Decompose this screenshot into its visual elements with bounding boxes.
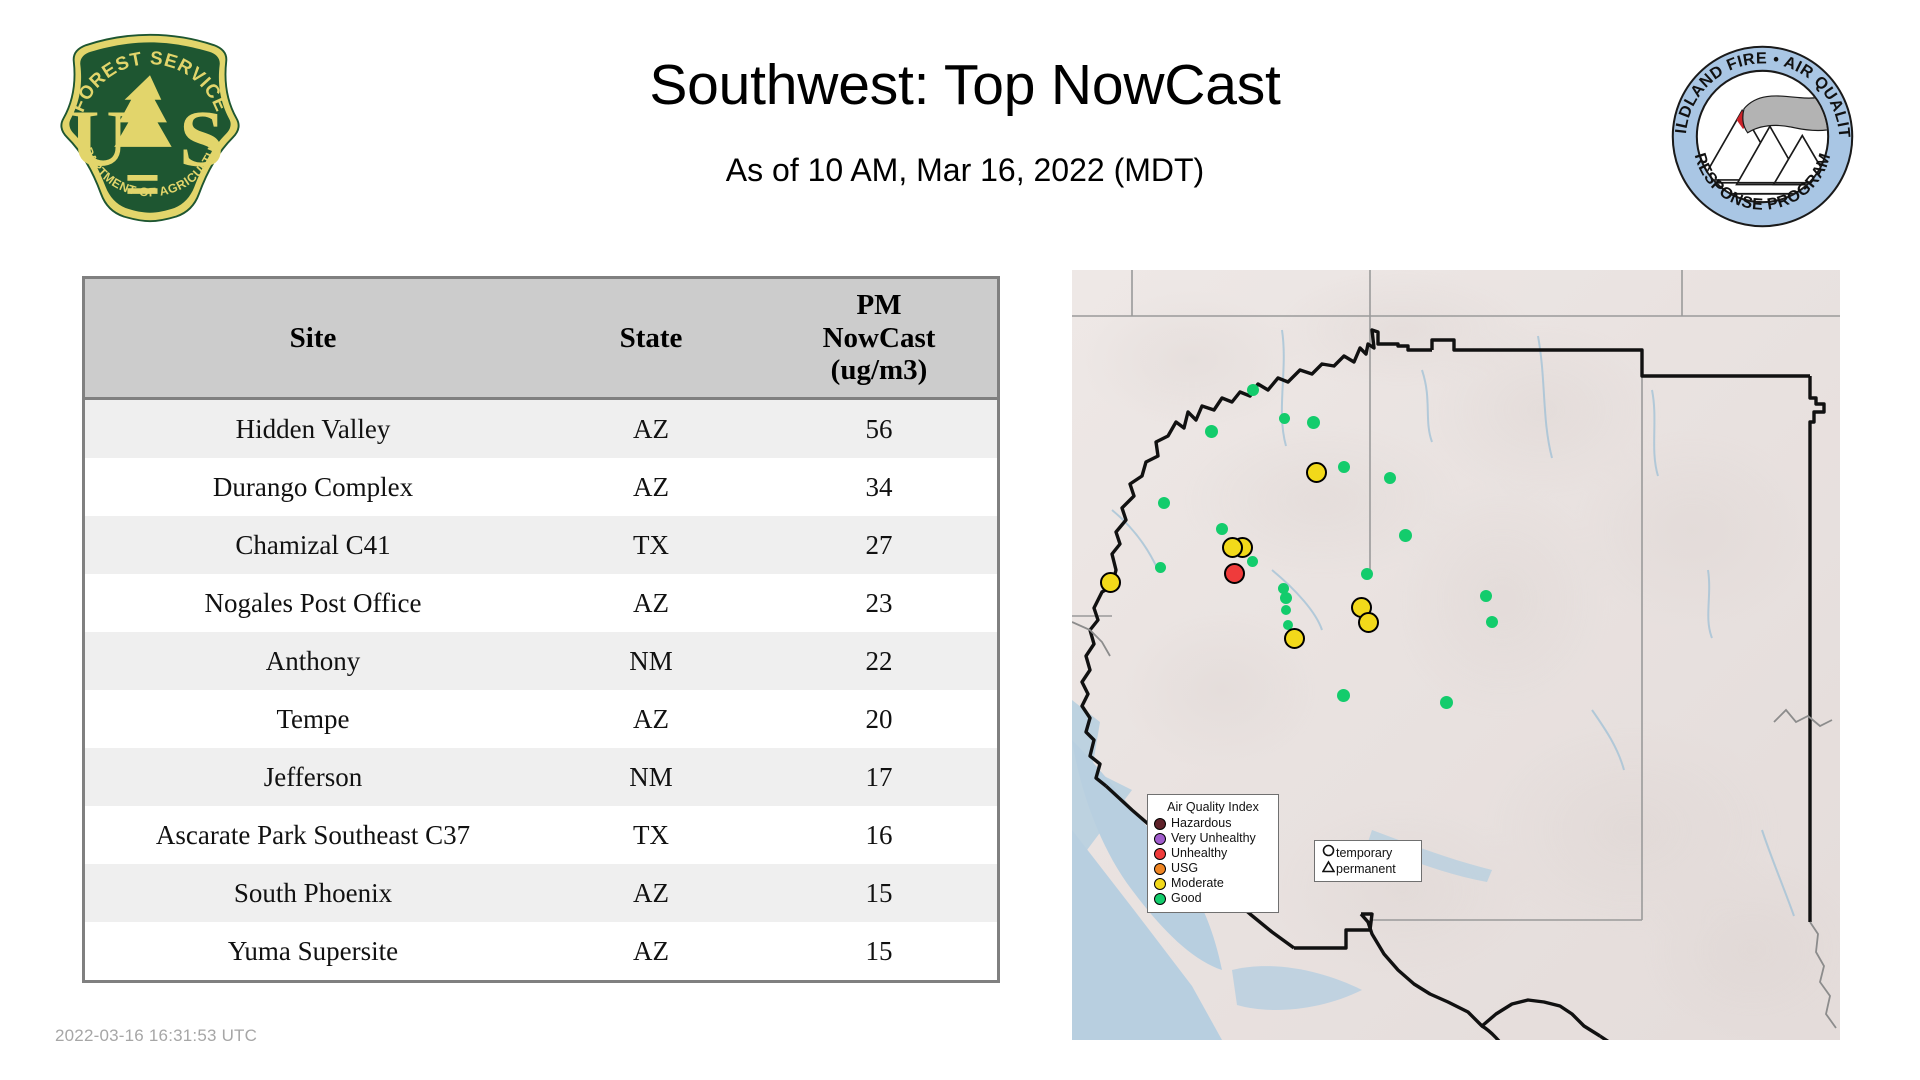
map-basemap — [1072, 270, 1840, 1040]
column-header-pm-line1: PM — [761, 289, 997, 321]
state-cell: NM — [541, 748, 761, 806]
state-cell: NM — [541, 632, 761, 690]
monitor-marker-good[interactable] — [1280, 592, 1292, 604]
aqi-legend-label: Good — [1171, 892, 1202, 905]
table-row[interactable]: Yuma SupersiteAZ15 — [84, 922, 999, 982]
monitor-marker-good[interactable] — [1337, 689, 1350, 702]
table-row[interactable]: Chamizal C41TX27 — [84, 516, 999, 574]
title-block: Southwest: Top NowCast As of 10 AM, Mar … — [300, 54, 1630, 189]
aqi-swatch-icon — [1154, 818, 1166, 830]
aqi-legend-row: Very Unhealthy — [1154, 831, 1272, 846]
aqi-legend-label: USG — [1171, 862, 1198, 875]
monitor-marker-moderate[interactable] — [1284, 628, 1305, 649]
pm-nowcast-cell: 16 — [761, 806, 999, 864]
state-cell: AZ — [541, 864, 761, 922]
site-cell: Jefferson — [84, 748, 542, 806]
site-cell: Tempe — [84, 690, 542, 748]
aqi-legend-label: Unhealthy — [1171, 847, 1227, 860]
state-cell: AZ — [541, 399, 761, 459]
site-type-temporary-label: temporary — [1336, 846, 1392, 860]
letter-s: S — [179, 94, 224, 184]
page-header: FOREST SERVICE DEPARTMENT OF AGRICULTURE… — [0, 0, 1920, 262]
table-row[interactable]: Durango ComplexAZ34 — [84, 458, 999, 516]
column-header-site-label: Site — [85, 322, 541, 354]
table-row[interactable]: Ascarate Park Southeast C37TX16 — [84, 806, 999, 864]
table-row[interactable]: Nogales Post OfficeAZ23 — [84, 574, 999, 632]
pm-nowcast-cell: 23 — [761, 574, 999, 632]
table-header-row: Site State PM NowCast (ug/m3) — [84, 278, 999, 399]
site-cell: Nogales Post Office — [84, 574, 542, 632]
table-row[interactable]: TempeAZ20 — [84, 690, 999, 748]
aqi-legend-row: Moderate — [1154, 876, 1272, 891]
aqi-swatch-icon — [1154, 863, 1166, 875]
site-type-temporary-row: temporary — [1320, 845, 1416, 861]
aqi-swatch-icon — [1154, 878, 1166, 890]
aqi-legend-title: Air Quality Index — [1154, 800, 1272, 814]
monitor-marker-moderate[interactable] — [1358, 612, 1379, 633]
aqi-legend-rows: HazardousVery UnhealthyUnhealthyUSGModer… — [1154, 816, 1272, 906]
wfaqrp-seal-icon: WILDLAND FIRE • AIR QUALITY RESPONSE PRO… — [1670, 44, 1855, 229]
column-header-site[interactable]: Site — [84, 278, 542, 399]
monitor-marker-good[interactable] — [1399, 529, 1412, 542]
page-subtitle: As of 10 AM, Mar 16, 2022 (MDT) — [300, 152, 1630, 189]
forest-service-shield-icon: FOREST SERVICE DEPARTMENT OF AGRICULTURE… — [55, 32, 245, 224]
monitor-marker-good[interactable] — [1384, 472, 1396, 484]
state-cell: AZ — [541, 690, 761, 748]
table-row[interactable]: JeffersonNM17 — [84, 748, 999, 806]
site-type-permanent-label: permanent — [1336, 862, 1396, 876]
pm-nowcast-cell: 22 — [761, 632, 999, 690]
monitor-marker-moderate[interactable] — [1306, 462, 1327, 483]
monitor-marker-moderate[interactable] — [1100, 572, 1121, 593]
aqi-legend-row: Unhealthy — [1154, 846, 1272, 861]
top-nowcast-table: Site State PM NowCast (ug/m3) Hidden Val… — [82, 276, 1000, 983]
monitor-marker-good[interactable] — [1158, 497, 1170, 509]
site-cell: Ascarate Park Southeast C37 — [84, 806, 542, 864]
column-header-pm-nowcast[interactable]: PM NowCast (ug/m3) — [761, 278, 999, 399]
monitor-marker-good[interactable] — [1440, 696, 1453, 709]
aqi-swatch-icon — [1154, 833, 1166, 845]
monitor-marker-good[interactable] — [1279, 413, 1290, 424]
top-nowcast-table-container: Site State PM NowCast (ug/m3) Hidden Val… — [82, 276, 994, 983]
site-cell: Durango Complex — [84, 458, 542, 516]
pm-nowcast-cell: 17 — [761, 748, 999, 806]
table-row[interactable]: Hidden ValleyAZ56 — [84, 399, 999, 459]
monitor-marker-good[interactable] — [1480, 590, 1492, 602]
aqi-legend-label: Very Unhealthy — [1171, 832, 1256, 845]
page-title: Southwest: Top NowCast — [300, 54, 1630, 118]
aqi-swatch-icon — [1154, 893, 1166, 905]
site-type-permanent-row: permanent — [1320, 861, 1416, 877]
permanent-triangle-icon — [1320, 860, 1336, 878]
column-header-pm-line2: NowCast — [761, 322, 997, 354]
table-row[interactable]: South PhoenixAZ15 — [84, 864, 999, 922]
state-cell: AZ — [541, 458, 761, 516]
monitor-marker-good[interactable] — [1247, 384, 1259, 396]
state-cell: AZ — [541, 922, 761, 982]
aqi-swatch-icon — [1154, 848, 1166, 860]
column-header-state-label: State — [541, 322, 761, 354]
monitor-marker-moderate[interactable] — [1222, 537, 1243, 558]
pm-nowcast-cell: 34 — [761, 458, 999, 516]
site-type-legend: temporary permanent — [1314, 840, 1422, 882]
column-header-pm-line3: (ug/m3) — [761, 354, 997, 386]
wildland-fire-air-quality-logo: WILDLAND FIRE • AIR QUALITY RESPONSE PRO… — [1670, 44, 1855, 229]
southwest-monitor-map[interactable]: Air Quality Index HazardousVery Unhealth… — [1072, 270, 1840, 1040]
pm-nowcast-cell: 27 — [761, 516, 999, 574]
table-row[interactable]: AnthonyNM22 — [84, 632, 999, 690]
monitor-marker-good[interactable] — [1205, 425, 1218, 438]
monitor-marker-unhealthy[interactable] — [1224, 563, 1245, 584]
state-cell: TX — [541, 806, 761, 864]
monitor-marker-good[interactable] — [1281, 605, 1291, 615]
state-cell: TX — [541, 516, 761, 574]
site-cell: Hidden Valley — [84, 399, 542, 459]
usda-forest-service-logo: FOREST SERVICE DEPARTMENT OF AGRICULTURE… — [55, 32, 245, 224]
monitor-marker-good[interactable] — [1361, 568, 1373, 580]
monitor-marker-good[interactable] — [1338, 461, 1350, 473]
aqi-legend-label: Moderate — [1171, 877, 1224, 890]
pm-nowcast-cell: 15 — [761, 864, 999, 922]
monitor-marker-good[interactable] — [1155, 562, 1166, 573]
air-quality-index-legend: Air Quality Index HazardousVery Unhealth… — [1147, 794, 1279, 913]
aqi-legend-row: Hazardous — [1154, 816, 1272, 831]
aqi-legend-row: USG — [1154, 861, 1272, 876]
table-body: Hidden ValleyAZ56Durango ComplexAZ34Cham… — [84, 399, 999, 982]
pm-nowcast-cell: 15 — [761, 922, 999, 982]
site-cell: South Phoenix — [84, 864, 542, 922]
aqi-legend-row: Good — [1154, 891, 1272, 906]
pm-nowcast-cell: 20 — [761, 690, 999, 748]
monitor-marker-good[interactable] — [1247, 556, 1258, 567]
monitor-marker-good[interactable] — [1486, 616, 1498, 628]
site-cell: Yuma Supersite — [84, 922, 542, 982]
column-header-state[interactable]: State — [541, 278, 761, 399]
monitor-marker-good[interactable] — [1216, 523, 1228, 535]
monitor-marker-good[interactable] — [1307, 416, 1320, 429]
generation-timestamp: 2022-03-16 16:31:53 UTC — [55, 1026, 257, 1046]
state-cell: AZ — [541, 574, 761, 632]
table-head: Site State PM NowCast (ug/m3) — [84, 278, 999, 399]
site-cell: Anthony — [84, 632, 542, 690]
site-cell: Chamizal C41 — [84, 516, 542, 574]
aqi-legend-label: Hazardous — [1171, 817, 1231, 830]
pm-nowcast-cell: 56 — [761, 399, 999, 459]
